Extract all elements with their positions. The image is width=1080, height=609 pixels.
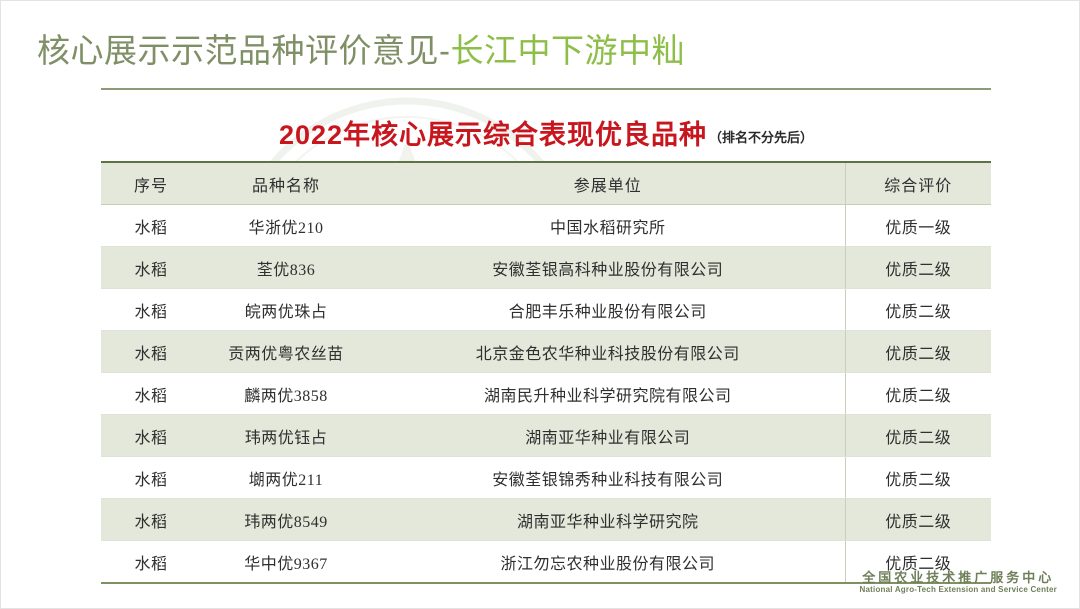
cell-eval: 优质二级 <box>845 415 991 457</box>
cell-no: 水稻 <box>101 331 201 373</box>
table-header-row: 序号 品种名称 参展单位 综合评价 <box>101 162 991 205</box>
cell-unit: 湖南亚华种业科学研究院 <box>371 499 845 541</box>
cell-unit: 安徽荃银高科种业股份有限公司 <box>371 247 845 289</box>
cell-name: 㙟两优211 <box>201 457 371 499</box>
cell-no: 水稻 <box>101 499 201 541</box>
cell-eval: 优质一级 <box>845 205 991 247</box>
footer-logo: 全国农业技术推广服务中心 National Agro-Tech Extensio… <box>860 571 1057 594</box>
cell-name: 荃优836 <box>201 247 371 289</box>
cell-unit: 安徽荃银锦秀种业科技有限公司 <box>371 457 845 499</box>
cell-name: 华浙优210 <box>201 205 371 247</box>
table-row: 水稻 玮两优钰占 湖南亚华种业有限公司 优质二级 <box>101 415 991 457</box>
cell-no: 水稻 <box>101 205 201 247</box>
cell-eval: 优质二级 <box>845 457 991 499</box>
table-row: 水稻 华中优9367 浙江勿忘农种业股份有限公司 优质二级 <box>101 541 991 584</box>
page-title-main: 核心展示示范品种评价意见 <box>37 32 439 69</box>
variety-table: 序号 品种名称 参展单位 综合评价 水稻 华浙优210 中国水稻研究所 优质一级… <box>101 161 991 584</box>
cell-name: 麟两优3858 <box>201 373 371 415</box>
cell-eval: 优质二级 <box>845 331 991 373</box>
table-heading-note: （排名不分先后） <box>709 130 813 145</box>
cell-no: 水稻 <box>101 415 201 457</box>
cell-eval: 优质二级 <box>845 247 991 289</box>
cell-no: 水稻 <box>101 541 201 584</box>
title-divider <box>101 88 991 90</box>
column-header-name: 品种名称 <box>201 162 371 205</box>
table-row: 水稻 皖两优珠占 合肥丰乐种业股份有限公司 优质二级 <box>101 289 991 331</box>
cell-unit: 中国水稻研究所 <box>371 205 845 247</box>
variety-table-wrapper: 序号 品种名称 参展单位 综合评价 水稻 华浙优210 中国水稻研究所 优质一级… <box>101 161 991 584</box>
table-row: 水稻 麟两优3858 湖南民升种业科学研究院有限公司 优质二级 <box>101 373 991 415</box>
column-header-no: 序号 <box>101 162 201 205</box>
cell-name: 华中优9367 <box>201 541 371 584</box>
cell-unit: 浙江勿忘农种业股份有限公司 <box>371 541 845 584</box>
cell-no: 水稻 <box>101 247 201 289</box>
page-title-accent: 长江中下游中籼 <box>451 32 686 69</box>
table-row: 水稻 贡两优粤农丝苗 北京金色农华种业科技股份有限公司 优质二级 <box>101 331 991 373</box>
cell-unit: 北京金色农华种业科技股份有限公司 <box>371 331 845 373</box>
slide-canvas: 农技 NATESC 核心展示示范品种评价意见-长江中下游中籼 2022年核心展示… <box>0 0 1080 609</box>
cell-no: 水稻 <box>101 289 201 331</box>
column-header-unit: 参展单位 <box>371 162 845 205</box>
table-heading: 2022年核心展示综合表现优良品种（排名不分先后） <box>101 113 991 152</box>
column-header-eval: 综合评价 <box>845 162 991 205</box>
cell-name: 皖两优珠占 <box>201 289 371 331</box>
table-row: 水稻 荃优836 安徽荃银高科种业股份有限公司 优质二级 <box>101 247 991 289</box>
cell-name: 玮两优8549 <box>201 499 371 541</box>
footer-logo-cn: 全国农业技术推广服务中心 <box>860 571 1057 585</box>
table-row: 水稻 华浙优210 中国水稻研究所 优质一级 <box>101 205 991 247</box>
cell-unit: 湖南民升种业科学研究院有限公司 <box>371 373 845 415</box>
cell-eval: 优质二级 <box>845 289 991 331</box>
table-row: 水稻 㙟两优211 安徽荃银锦秀种业科技有限公司 优质二级 <box>101 457 991 499</box>
table-heading-main: 2022年核心展示综合表现优良品种 <box>279 120 707 150</box>
cell-unit: 湖南亚华种业有限公司 <box>371 415 845 457</box>
cell-name: 贡两优粤农丝苗 <box>201 331 371 373</box>
page-title: 核心展示示范品种评价意见-长江中下游中籼 <box>37 29 685 73</box>
cell-no: 水稻 <box>101 373 201 415</box>
cell-eval: 优质二级 <box>845 499 991 541</box>
cell-name: 玮两优钰占 <box>201 415 371 457</box>
cell-eval: 优质二级 <box>845 373 991 415</box>
footer-logo-en: National Agro-Tech Extension and Service… <box>860 586 1057 594</box>
cell-no: 水稻 <box>101 457 201 499</box>
cell-unit: 合肥丰乐种业股份有限公司 <box>371 289 845 331</box>
table-row: 水稻 玮两优8549 湖南亚华种业科学研究院 优质二级 <box>101 499 991 541</box>
page-title-dash: - <box>439 32 451 69</box>
